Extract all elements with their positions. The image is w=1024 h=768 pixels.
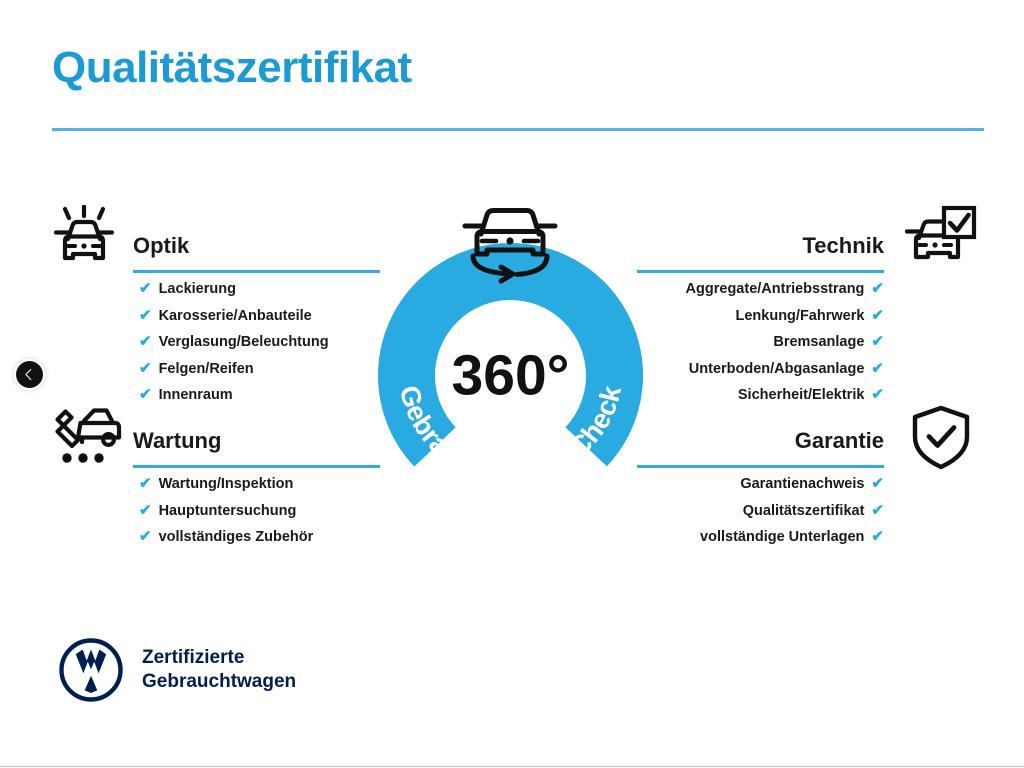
- section-title: Technik: [637, 232, 884, 260]
- list-item: Aggregate/Antriebsstrang ✔: [637, 276, 884, 303]
- vw-logo-text-line2: Gebrauchtwagen: [142, 670, 296, 694]
- list-item: ✔ Innenraum: [133, 382, 380, 409]
- shield-check-icon: [911, 405, 971, 471]
- section-title: Garantie: [637, 427, 884, 455]
- check-icon: ✔: [871, 276, 884, 302]
- car-shine-icon: [48, 205, 120, 267]
- vw-logo-text-line1: Zertifizierte: [142, 646, 296, 670]
- list-item: ✔ Hauptuntersuchung: [133, 498, 380, 525]
- check-icon: ✔: [871, 471, 884, 497]
- list-item: ✔ vollständiges Zubehör: [133, 524, 380, 551]
- check-icon: ✔: [871, 356, 884, 382]
- section-wartung: Wartung ✔ Wartung/Inspektion ✔ Hauptunte…: [133, 427, 380, 551]
- list-item-label: vollständige Unterlagen: [700, 525, 864, 551]
- bottom-divider: [0, 766, 1024, 767]
- previous-slide-button[interactable]: [16, 361, 43, 388]
- list-item: Lenkung/Fahrwerk ✔: [637, 303, 884, 330]
- list-item-label: Verglasung/Beleuchtung: [159, 330, 329, 356]
- section-title: Wartung: [133, 427, 380, 455]
- page-title: Qualitätszertifikat: [52, 46, 412, 90]
- list-item: vollständige Unterlagen ✔: [637, 524, 884, 551]
- check-icon: ✔: [139, 303, 152, 329]
- check-icon: ✔: [139, 356, 152, 382]
- section-optik: Optik ✔ Lackierung ✔ Karosserie/Anbautei…: [133, 232, 380, 409]
- check-icon: ✔: [139, 498, 152, 524]
- list-item-label: Sicherheit/Elektrik: [738, 383, 865, 409]
- section-header: Garantie: [637, 427, 884, 471]
- check-icon: ✔: [871, 498, 884, 524]
- list-item-label: vollständiges Zubehör: [159, 525, 314, 551]
- list-item-label: Hauptuntersuchung: [159, 499, 297, 525]
- list-item: Qualitätszertifikat ✔: [637, 498, 884, 525]
- check-icon: ✔: [871, 303, 884, 329]
- section-rule: [133, 465, 380, 468]
- section-rule: [637, 465, 884, 468]
- checklist-garantie: Garantienachweis ✔ Qualitätszertifikat ✔…: [637, 471, 884, 551]
- check-icon: ✔: [871, 329, 884, 355]
- section-rule: [133, 270, 380, 273]
- list-item-label: Unterboden/Abgasanlage: [689, 357, 865, 383]
- check-icon: ✔: [139, 471, 152, 497]
- list-item: Unterboden/Abgasanlage ✔: [637, 356, 884, 383]
- list-item: Bremsanlage ✔: [637, 329, 884, 356]
- section-technik: Technik Aggregate/Antriebsstrang ✔ Lenku…: [637, 232, 884, 409]
- list-item-label: Karosserie/Anbauteile: [159, 304, 312, 330]
- list-item: Sicherheit/Elektrik ✔: [637, 382, 884, 409]
- car-rotate-icon: [455, 196, 565, 284]
- list-item-label: Lackierung: [159, 277, 236, 303]
- list-item: ✔ Wartung/Inspektion: [133, 471, 380, 498]
- list-item: ✔ Felgen/Reifen: [133, 356, 380, 383]
- vw-logo-text: Zertifizierte Gebrauchtwagen: [142, 646, 296, 694]
- list-item-label: Innenraum: [159, 383, 233, 409]
- list-item: ✔ Verglasung/Beleuchtung: [133, 329, 380, 356]
- check-icon: ✔: [871, 382, 884, 408]
- chevron-left-icon: [22, 367, 37, 382]
- section-rule: [637, 270, 884, 273]
- check-icon: ✔: [139, 276, 152, 302]
- checklist-technik: Aggregate/Antriebsstrang ✔ Lenkung/Fahrw…: [637, 276, 884, 409]
- list-item: Garantienachweis ✔: [637, 471, 884, 498]
- list-item-label: Bremsanlage: [773, 330, 864, 356]
- check-icon: ✔: [139, 524, 152, 550]
- section-header: Optik: [133, 232, 380, 276]
- list-item: ✔ Lackierung: [133, 276, 380, 303]
- section-header: Wartung: [133, 427, 380, 471]
- check-icon: ✔: [139, 382, 152, 408]
- car-service-icon: [48, 401, 126, 467]
- list-item-label: Qualitätszertifikat: [743, 499, 865, 525]
- check-icon: ✔: [139, 329, 152, 355]
- list-item-label: Wartung/Inspektion: [159, 472, 294, 498]
- section-title: Optik: [133, 232, 380, 260]
- section-header: Technik: [637, 232, 884, 276]
- car-checkbox-icon: [905, 205, 977, 267]
- list-item-label: Lenkung/Fahrwerk: [736, 304, 865, 330]
- section-garantie: Garantie Garantienachweis ✔ Qualitätszer…: [637, 427, 884, 551]
- badge-center-label: 360°: [452, 344, 570, 408]
- list-item: ✔ Karosserie/Anbauteile: [133, 303, 380, 330]
- checklist-optik: ✔ Lackierung ✔ Karosserie/Anbauteile ✔ V…: [133, 276, 380, 409]
- vw-certified-logo: Zertifizierte Gebrauchtwagen: [58, 637, 296, 703]
- list-item-label: Aggregate/Antriebsstrang: [686, 277, 865, 303]
- list-item-label: Garantienachweis: [740, 472, 864, 498]
- title-divider: [52, 128, 984, 131]
- volkswagen-logo-icon: [58, 637, 124, 703]
- checklist-wartung: ✔ Wartung/Inspektion ✔ Hauptuntersuchung…: [133, 471, 380, 551]
- certificate-page: Qualitätszertifikat Optik: [0, 0, 1024, 768]
- list-item-label: Felgen/Reifen: [159, 357, 254, 383]
- check-icon: ✔: [871, 524, 884, 550]
